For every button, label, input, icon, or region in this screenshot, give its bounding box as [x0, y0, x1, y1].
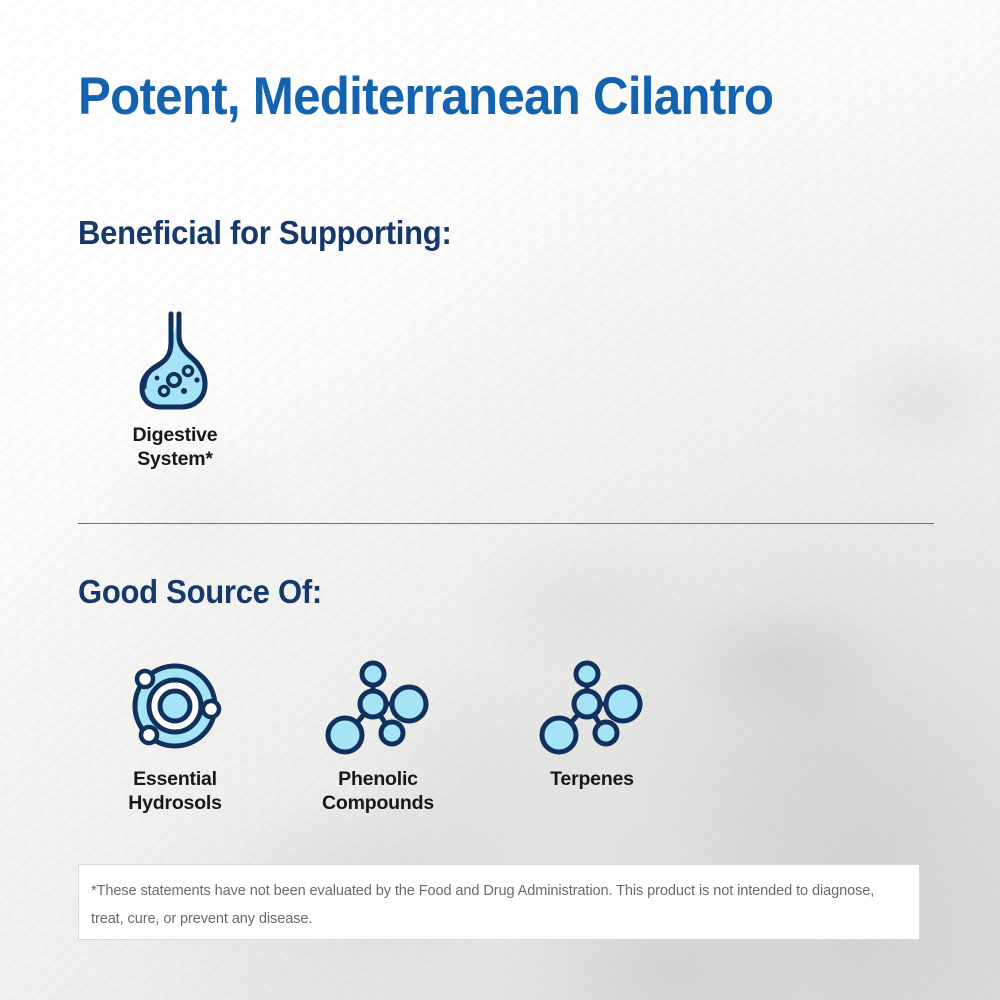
source-label-essential-hydrosols: Essential Hydrosols: [80, 767, 270, 815]
source-item-essential-hydrosols: Essential Hydrosols: [80, 652, 270, 815]
molecule-icon: [325, 656, 431, 756]
source-label-terpenes: Terpenes: [497, 767, 687, 791]
source-label-phenolic-compounds: Phenolic Compounds: [283, 767, 473, 815]
disclaimer-text: *These statements have not been evaluate…: [91, 877, 884, 933]
molecule-icon-wrapper-terpenes: [497, 652, 687, 756]
molecule-icon: [539, 656, 645, 756]
section-divider: [78, 523, 934, 524]
atom-orbit-icon-wrapper: [80, 652, 270, 756]
page-title: Potent, Mediterranean Cilantro: [78, 66, 773, 128]
source-item-phenolic-compounds: Phenolic Compounds: [283, 652, 473, 815]
section-heading-supporting: Beneficial for Supporting:: [78, 213, 452, 253]
stomach-icon: [127, 308, 223, 412]
source-item-terpenes: Terpenes: [497, 652, 687, 791]
stomach-icon-wrapper: [80, 308, 270, 412]
section-heading-source: Good Source Of:: [78, 572, 322, 612]
disclaimer-box: *These statements have not been evaluate…: [78, 864, 920, 940]
molecule-icon-wrapper-phenolic: [283, 652, 473, 756]
atom-orbit-icon: [123, 656, 227, 756]
product-benefits-panel: Potent, Mediterranean Cilantro Beneficia…: [0, 0, 1000, 1000]
benefit-label-digestive-system: Digestive System*: [80, 423, 270, 471]
benefit-item-digestive-system: Digestive System*: [80, 308, 270, 471]
